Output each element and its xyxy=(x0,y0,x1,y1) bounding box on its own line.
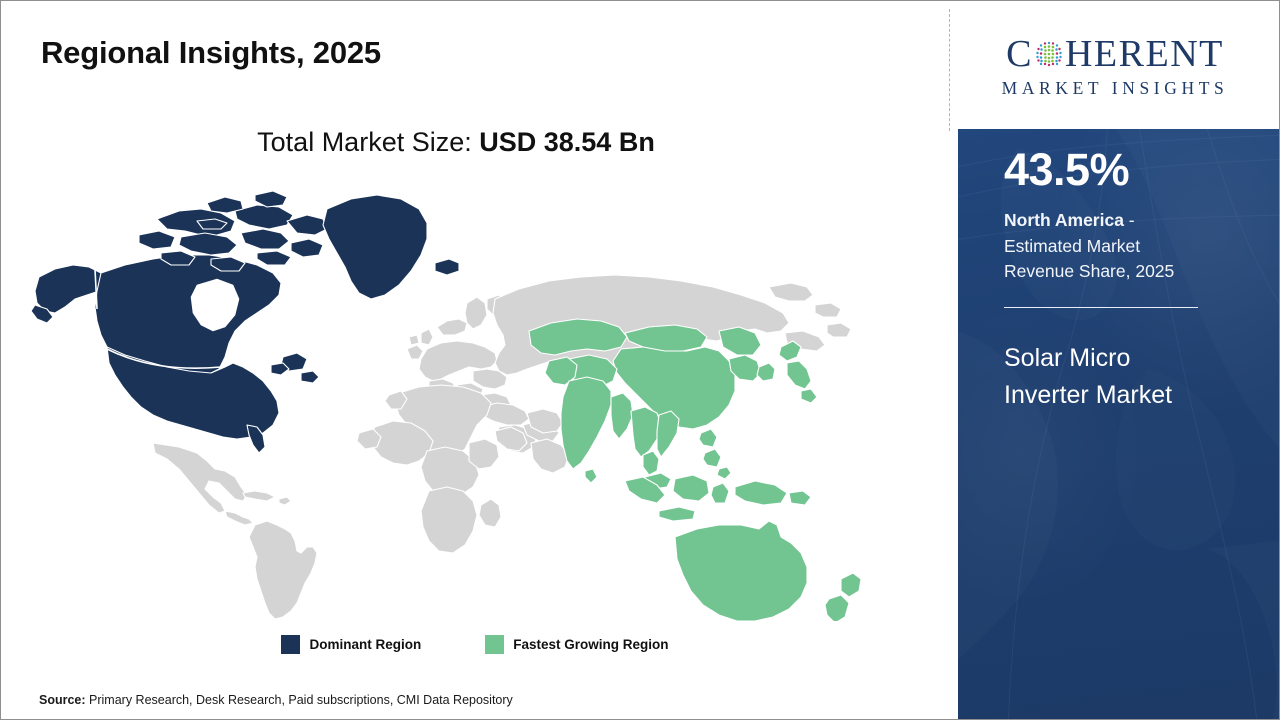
square-swatch-icon xyxy=(281,635,300,654)
regional-insights-infographic: Regional Insights, 2025 Total Market Siz… xyxy=(0,0,1280,720)
source-note: Source: Primary Research, Desk Research,… xyxy=(39,693,513,707)
dotted-globe-icon xyxy=(1034,39,1064,69)
map-region-fastest-growing[interactable] xyxy=(529,319,861,621)
total-market-size: Total Market Size: USD 38.54 Bn xyxy=(1,127,911,158)
world-map-svg[interactable] xyxy=(29,181,909,621)
stat-region-name: North America xyxy=(1004,210,1124,230)
legend-label-fastest-growing: Fastest Growing Region xyxy=(513,637,668,652)
stat-percent-value: 43.5% xyxy=(1004,147,1260,192)
company-logo[interactable]: C xyxy=(950,1,1280,129)
legend-label-dominant: Dominant Region xyxy=(309,637,421,652)
map-region-dominant[interactable] xyxy=(31,191,459,453)
source-text: Primary Research, Desk Research, Paid su… xyxy=(89,693,513,707)
stat-divider-rule xyxy=(1004,307,1198,308)
source-label: Source: xyxy=(39,693,86,707)
page-title: Regional Insights, 2025 xyxy=(41,35,381,71)
world-map-container xyxy=(29,181,909,621)
logo-subtitle: MARKET INSIGHTS xyxy=(1002,78,1229,99)
right-column: C xyxy=(950,1,1280,720)
total-market-size-label: Total Market Size: xyxy=(257,127,472,157)
legend-item-dominant: Dominant Region xyxy=(281,635,421,654)
market-name: Solar Micro Inverter Market xyxy=(1004,340,1189,414)
map-panel: Regional Insights, 2025 Total Market Siz… xyxy=(1,1,949,720)
legend-item-fastest-growing: Fastest Growing Region xyxy=(485,635,668,654)
map-legend: Dominant Region Fastest Growing Region xyxy=(1,635,949,654)
total-market-size-value: USD 38.54 Bn xyxy=(479,127,655,157)
square-swatch-icon xyxy=(485,635,504,654)
stat-panel: 43.5% North America - Estimated Market R… xyxy=(958,129,1280,720)
logo-wordmark: C xyxy=(1006,32,1224,76)
logo-word-herent: HERENT xyxy=(1065,35,1224,73)
stat-description: North America - Estimated Market Revenue… xyxy=(1004,208,1204,285)
stat-content: 43.5% North America - Estimated Market R… xyxy=(1004,147,1260,414)
logo-letter-c: C xyxy=(1006,35,1033,73)
